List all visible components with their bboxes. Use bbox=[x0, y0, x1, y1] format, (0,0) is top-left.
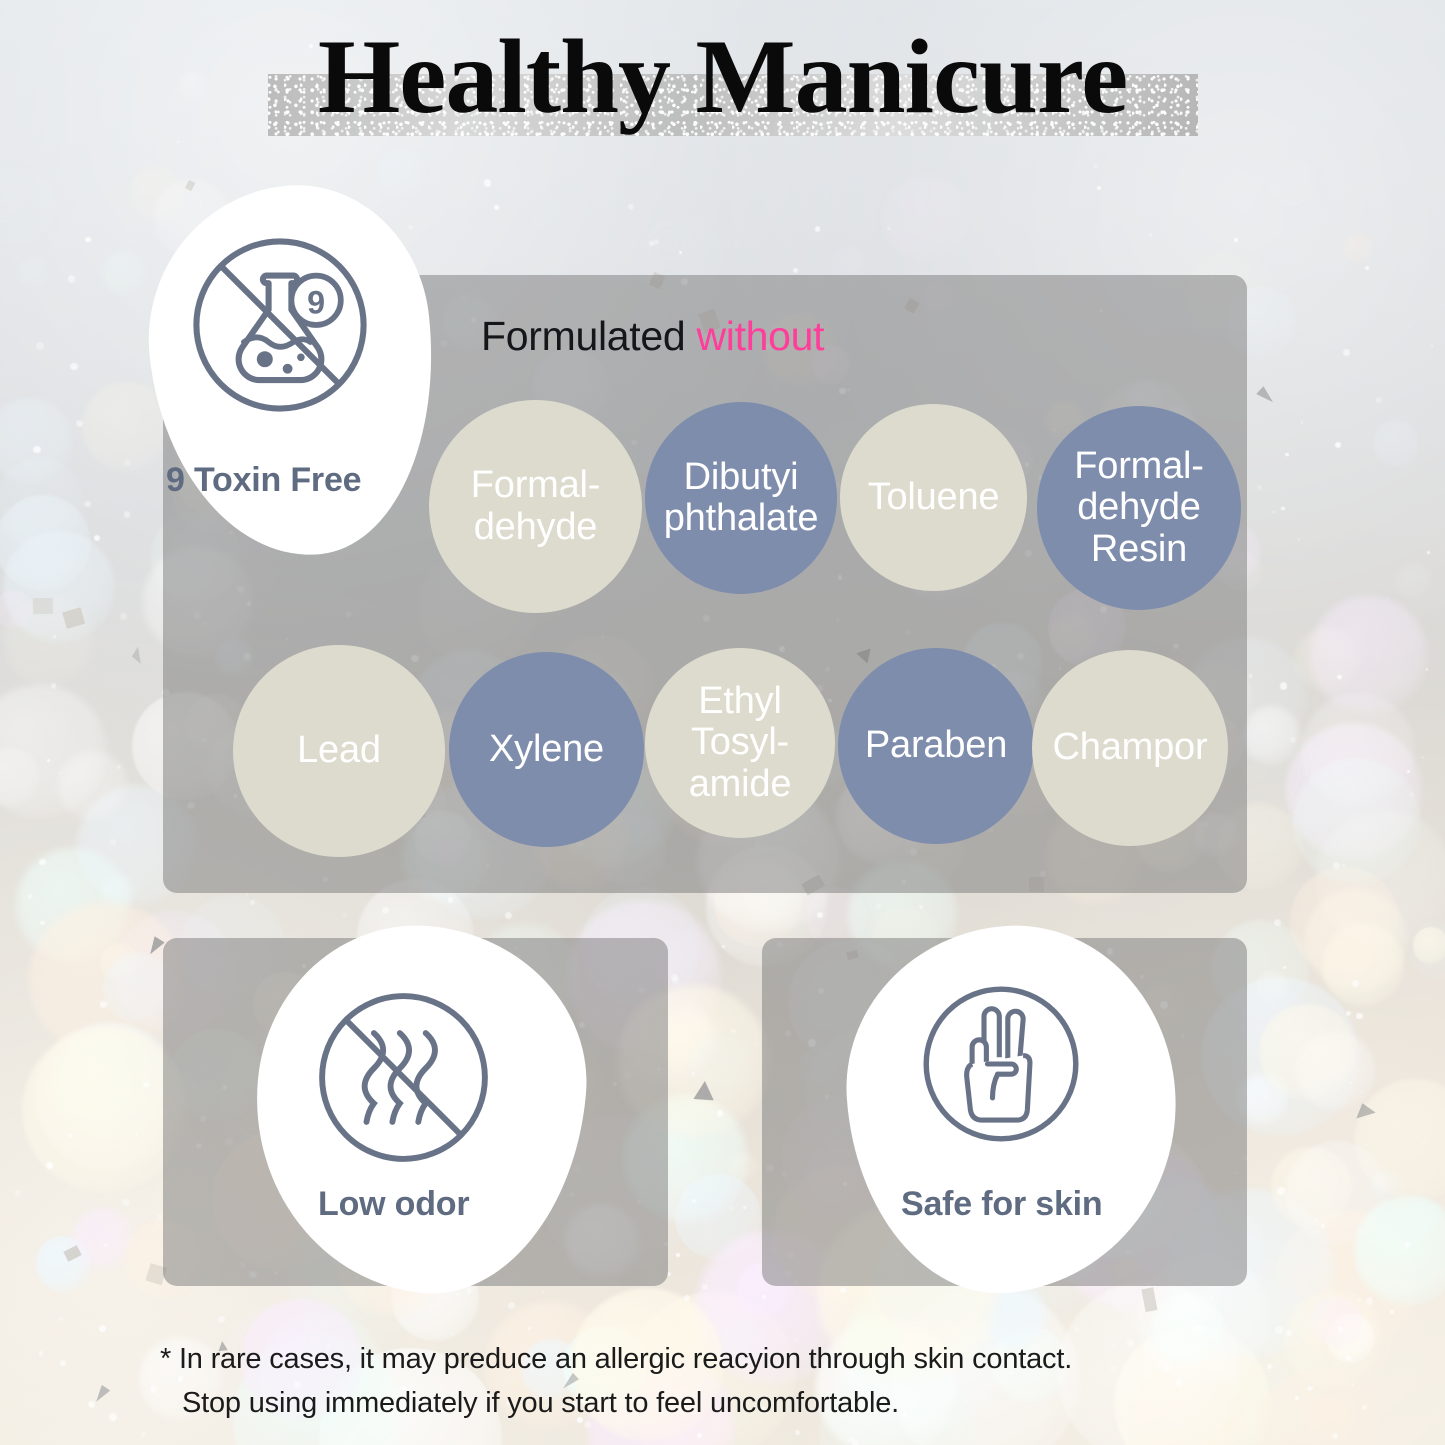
ingredient-label: Formal- dehyde Resin bbox=[1037, 446, 1241, 569]
ingredient-circle: Toluene bbox=[840, 404, 1027, 591]
ingredient-label: Toluene bbox=[840, 477, 1027, 518]
no-odor-icon bbox=[311, 985, 496, 1170]
page-title: Healthy Manicure bbox=[0, 24, 1445, 130]
ingredient-circle: Formal- dehyde bbox=[429, 400, 642, 613]
title-container: Healthy Manicure bbox=[0, 24, 1445, 130]
ingredient-circle: Lead bbox=[233, 645, 445, 857]
ingredient-circle: Formal- dehyde Resin bbox=[1037, 406, 1241, 610]
ingredient-circle: Xylene bbox=[449, 652, 644, 847]
safe-for-skin-label: Safe for skin bbox=[901, 1185, 1102, 1224]
ingredient-label: Paraben bbox=[838, 725, 1034, 766]
section-heading: Formulated without bbox=[481, 313, 824, 360]
ingredient-label: Dibutyi phthalate bbox=[645, 457, 837, 539]
toxin-free-label: 9 Toxin Free bbox=[166, 461, 361, 500]
ingredient-circle: Paraben bbox=[838, 648, 1034, 844]
ingredient-circle: Champor bbox=[1032, 650, 1228, 846]
peace-hand-icon bbox=[916, 975, 1086, 1170]
heading-accent: without bbox=[696, 313, 824, 359]
ingredient-label: Ethyl Tosyl- amide bbox=[645, 681, 835, 804]
no-chemical-flask-icon: 9 bbox=[185, 230, 375, 420]
ingredient-label: Formal- dehyde bbox=[429, 465, 642, 547]
ingredient-circle: Ethyl Tosyl- amide bbox=[645, 648, 835, 838]
footer-disclaimer: * In rare cases, it may preduce an aller… bbox=[160, 1337, 1290, 1425]
low-odor-label: Low odor bbox=[318, 1185, 469, 1224]
disclaimer-line-2: Stop using immediately if you start to f… bbox=[160, 1381, 1290, 1425]
heading-prefix: Formulated bbox=[481, 313, 696, 359]
disclaimer-line-1: * In rare cases, it may preduce an aller… bbox=[160, 1337, 1290, 1381]
ingredient-label: Xylene bbox=[449, 729, 644, 770]
ingredient-circle: Dibutyi phthalate bbox=[645, 402, 837, 594]
svg-text:9: 9 bbox=[307, 285, 325, 321]
ingredient-label: Champor bbox=[1032, 727, 1228, 768]
ingredient-label: Lead bbox=[233, 730, 445, 771]
